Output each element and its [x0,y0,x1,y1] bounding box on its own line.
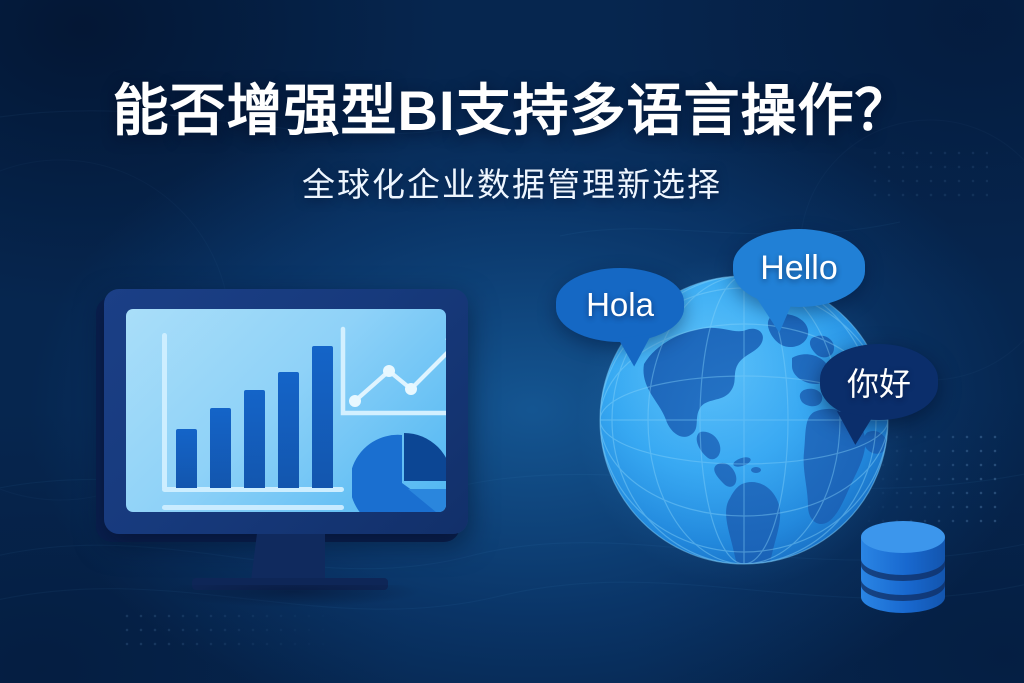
speech-bubble-hello-label: Hello [760,249,837,288]
monitor-screen [126,309,446,512]
pie-slice-b [404,433,446,481]
bar-chart [176,333,346,488]
line-chart [339,325,446,433]
poster-canvas: 能否增强型BI支持多语言操作？ 全球化企业数据管理新选择 [0,0,1024,683]
bar-chart-y-axis [162,333,167,490]
bar-3 [244,390,265,488]
monitor-ground-shadow [168,585,418,607]
database-icon [855,521,951,613]
line-chart-points [349,365,417,407]
speech-bubble-nihao-label: 你好 [847,359,911,405]
placeholder-line-1 [162,505,344,510]
speech-bubble-nihao[interactable]: 你好 [820,344,938,420]
decorative-dot-grid-bottom-left [120,609,360,653]
pie-chart [352,431,446,512]
speech-bubble-hola-tail [618,334,656,368]
bar-1 [176,429,197,488]
page-subtitle: 全球化企业数据管理新选择 [0,158,1024,206]
speech-bubble-hola-label: Hola [586,286,654,324]
monitor-body [104,289,468,534]
monitor-icon [104,289,468,534]
speech-bubble-hola[interactable]: Hola [556,268,684,342]
bar-5 [312,346,333,488]
monitor-stand-neck [251,534,325,580]
speech-bubble-nihao-tail [832,411,873,447]
bar-2 [210,408,231,488]
speech-bubble-hello[interactable]: Hello [733,229,865,307]
bar-4 [278,372,299,488]
page-title: 能否增强型BI支持多语言操作？ [0,66,1024,147]
speech-bubble-hello-tail [753,298,792,334]
